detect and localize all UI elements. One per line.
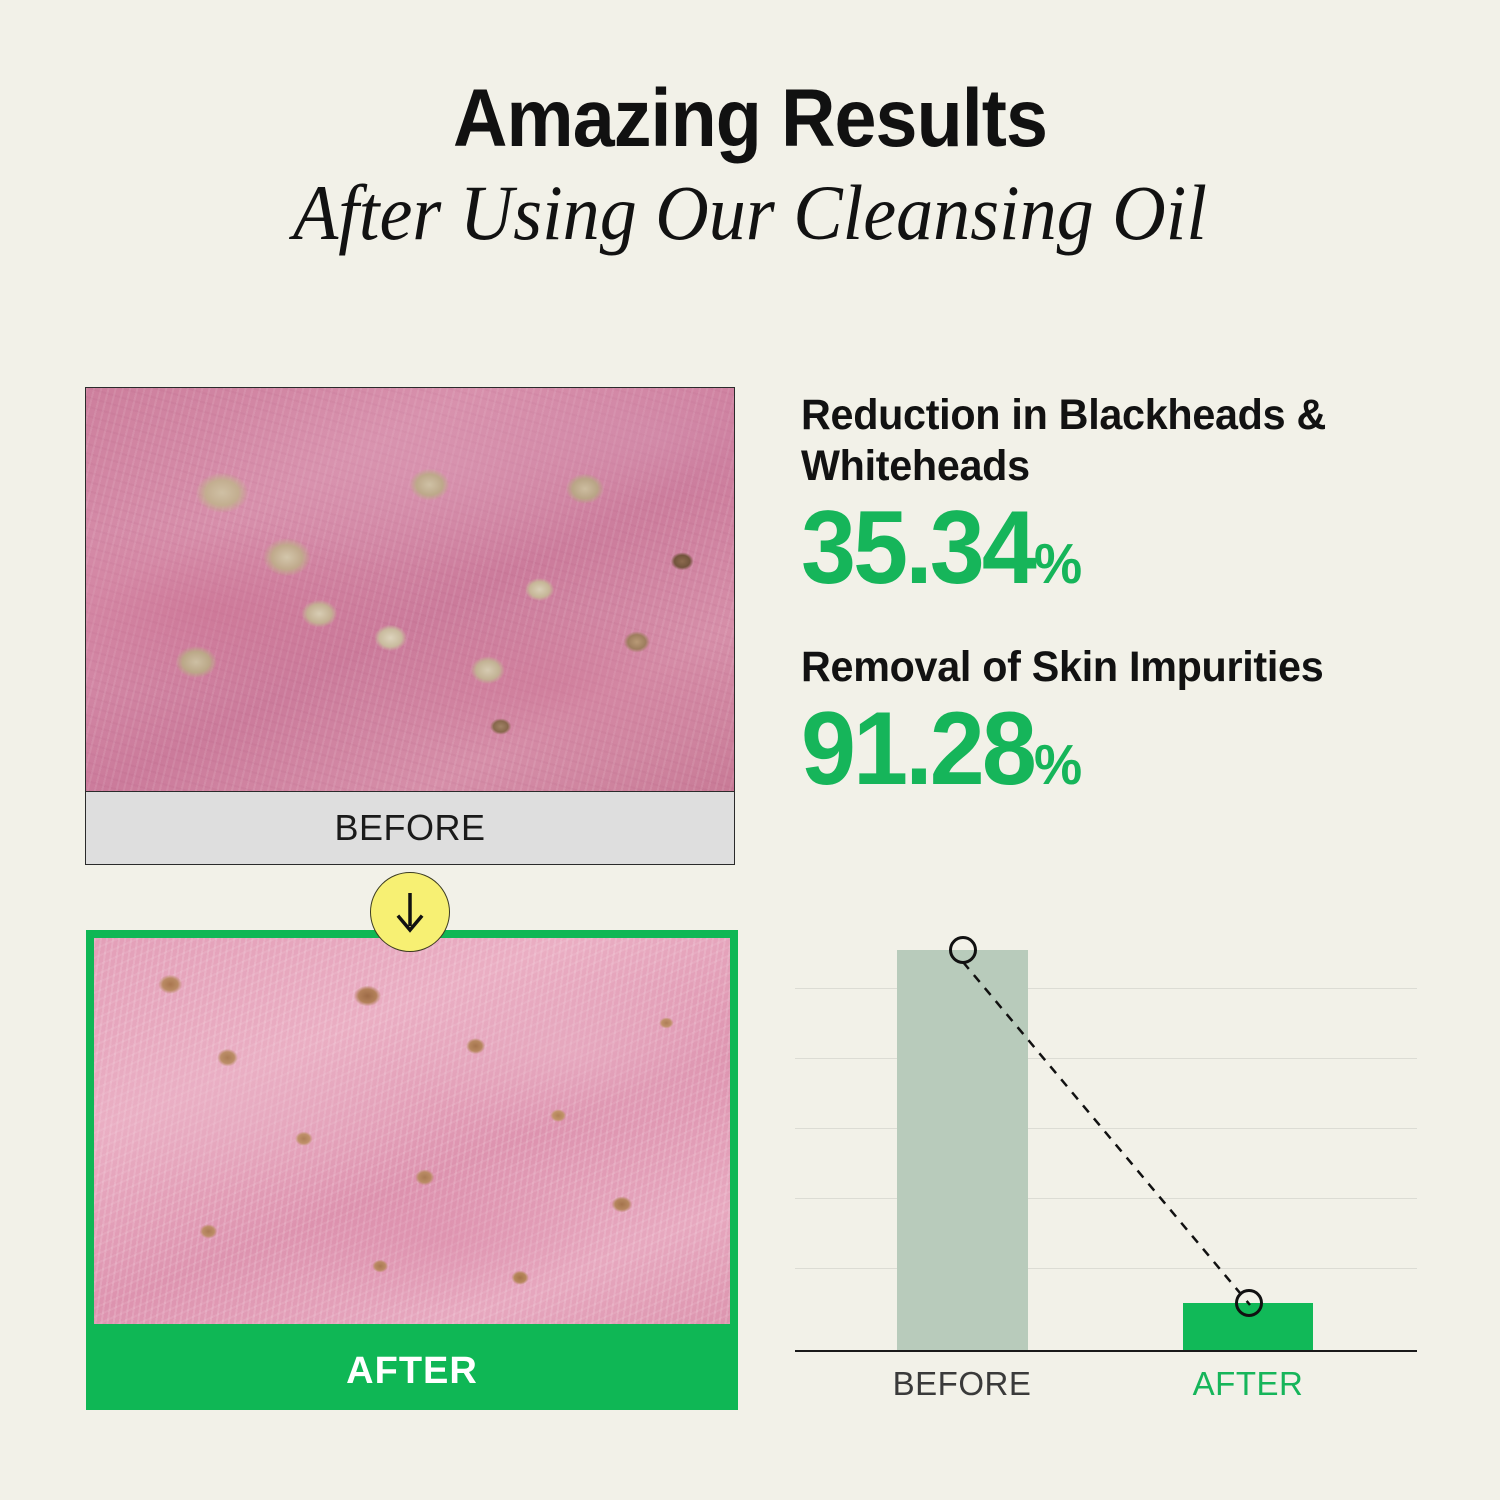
stat-label-impurities: Removal of Skin Impurities: [801, 642, 1415, 693]
chart-xlabel-before: BEFORE: [862, 1365, 1062, 1403]
stat-label-blackheads: Reduction in Blackheads & Whiteheads: [801, 390, 1415, 492]
stat-number-impurities: 91.28: [801, 691, 1034, 807]
before-caption: BEFORE: [85, 792, 735, 865]
stats-panel: Reduction in Blackheads & Whiteheads 35.…: [801, 390, 1441, 821]
stat-number-blackheads: 35.34: [801, 490, 1034, 606]
after-card: AFTER: [86, 930, 738, 1410]
chart-marker-before: [949, 936, 977, 964]
before-card: BEFORE: [85, 387, 735, 865]
stat-block-blackheads: Reduction in Blackheads & Whiteheads 35.…: [801, 390, 1441, 620]
chart-xlabel-after: AFTER: [1148, 1365, 1348, 1403]
stat-value-blackheads: 35.34%: [801, 492, 1409, 620]
before-skin-photo: [85, 387, 735, 792]
page-subtitle: After Using Our Cleansing Oil: [38, 170, 1463, 256]
down-arrow-icon: [370, 872, 450, 952]
after-skin-photo: [86, 930, 738, 1332]
header: Amazing Results After Using Our Cleansin…: [0, 0, 1500, 300]
stat-percent-blackheads: %: [1034, 532, 1081, 596]
stat-percent-impurities: %: [1034, 733, 1081, 797]
page-title: Amazing Results: [60, 78, 1440, 160]
chart-marker-after: [1235, 1289, 1263, 1317]
after-caption: AFTER: [86, 1332, 738, 1410]
trend-connector-line: [795, 940, 1417, 1352]
stat-block-impurities: Removal of Skin Impurities 91.28%: [801, 642, 1441, 821]
before-after-bar-chart: BEFORE AFTER: [795, 940, 1420, 1410]
stat-value-impurities: 91.28%: [801, 693, 1409, 821]
